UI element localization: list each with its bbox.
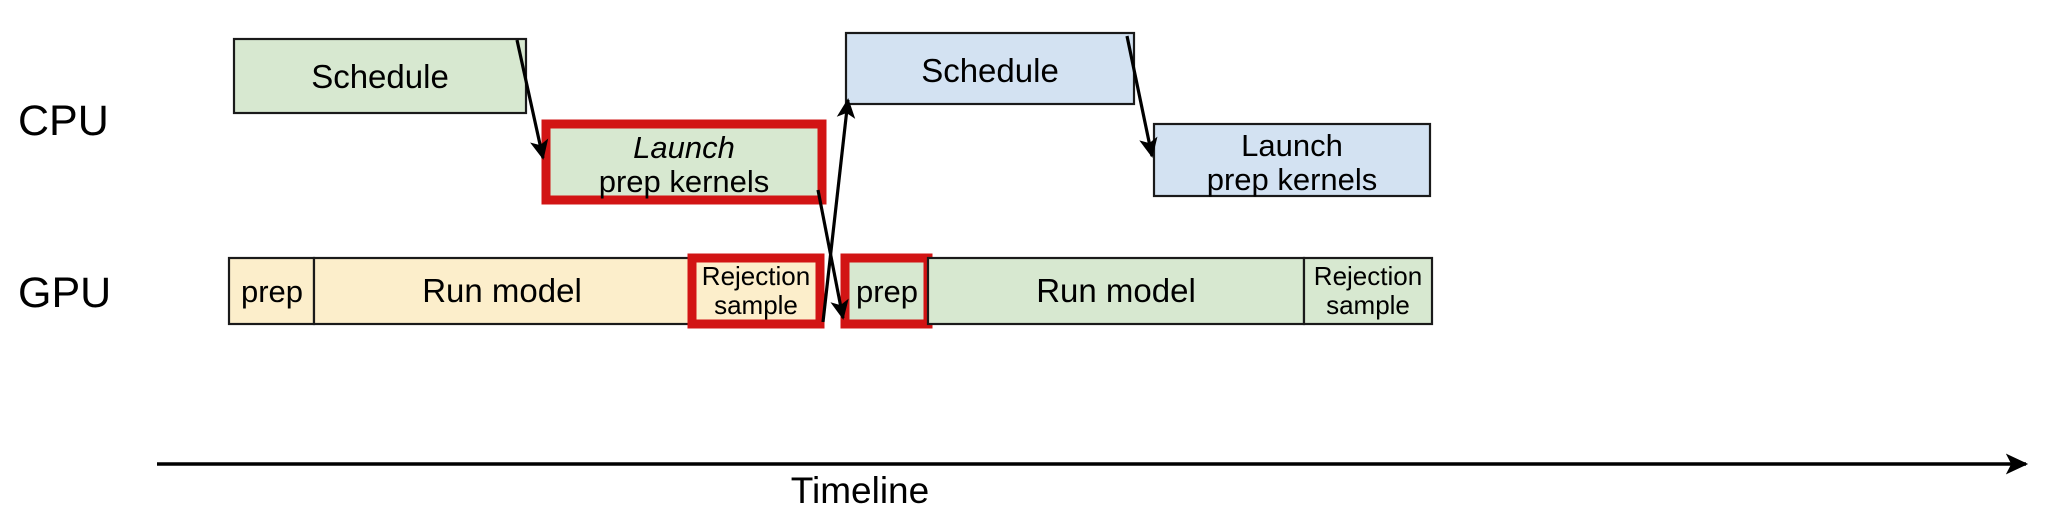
gpu-block-prep-1[interactable]: prep <box>229 258 314 324</box>
run-model-1-label: Run model <box>422 272 582 309</box>
launch-prep-kernels-1-line1: Launch <box>633 130 735 165</box>
rejection-sample-2-line1: Rejection <box>1314 261 1422 291</box>
prep-1-label: prep <box>241 274 303 309</box>
rejection-sample-1-line2: sample <box>714 290 798 320</box>
gpu-block-run-model-2[interactable]: Run model <box>928 258 1304 324</box>
launch-prep-kernels-2-line2: prep kernels <box>1207 162 1378 197</box>
gpu-block-run-model-1[interactable]: Run model <box>314 258 690 324</box>
launch-prep-kernels-1-line2: prep kernels <box>599 164 770 199</box>
rejection-sample-2-line2: sample <box>1326 290 1410 320</box>
gpu-block-prep-2[interactable]: prep <box>845 258 928 324</box>
gpu-block-rejection-sample-2[interactable]: Rejection sample <box>1304 258 1432 324</box>
row-label-gpu: GPU <box>18 269 111 317</box>
rejection-sample-1-line1: Rejection <box>702 261 810 291</box>
timeline-diagram: CPU GPU Schedule Launch prep kernels Sch… <box>0 0 2048 525</box>
schedule-1-label: Schedule <box>311 58 449 95</box>
launch-prep-kernels-2-line1: Launch <box>1241 128 1343 163</box>
run-model-2-label: Run model <box>1036 272 1196 309</box>
cpu-block-schedule-1[interactable]: Schedule <box>234 39 526 113</box>
gpu-block-rejection-sample-1[interactable]: Rejection sample <box>692 258 820 324</box>
row-label-cpu: CPU <box>18 97 109 145</box>
schedule-2-label: Schedule <box>921 52 1059 89</box>
cpu-block-launch-prep-kernels-2[interactable]: Launch prep kernels <box>1154 124 1430 197</box>
prep-2-label: prep <box>856 274 918 309</box>
timeline-label: Timeline <box>791 470 929 511</box>
cpu-block-launch-prep-kernels-1[interactable]: Launch prep kernels <box>546 124 822 200</box>
cpu-block-schedule-2[interactable]: Schedule <box>846 33 1134 104</box>
diagram-canvas: CPU GPU Schedule Launch prep kernels Sch… <box>0 0 2048 525</box>
